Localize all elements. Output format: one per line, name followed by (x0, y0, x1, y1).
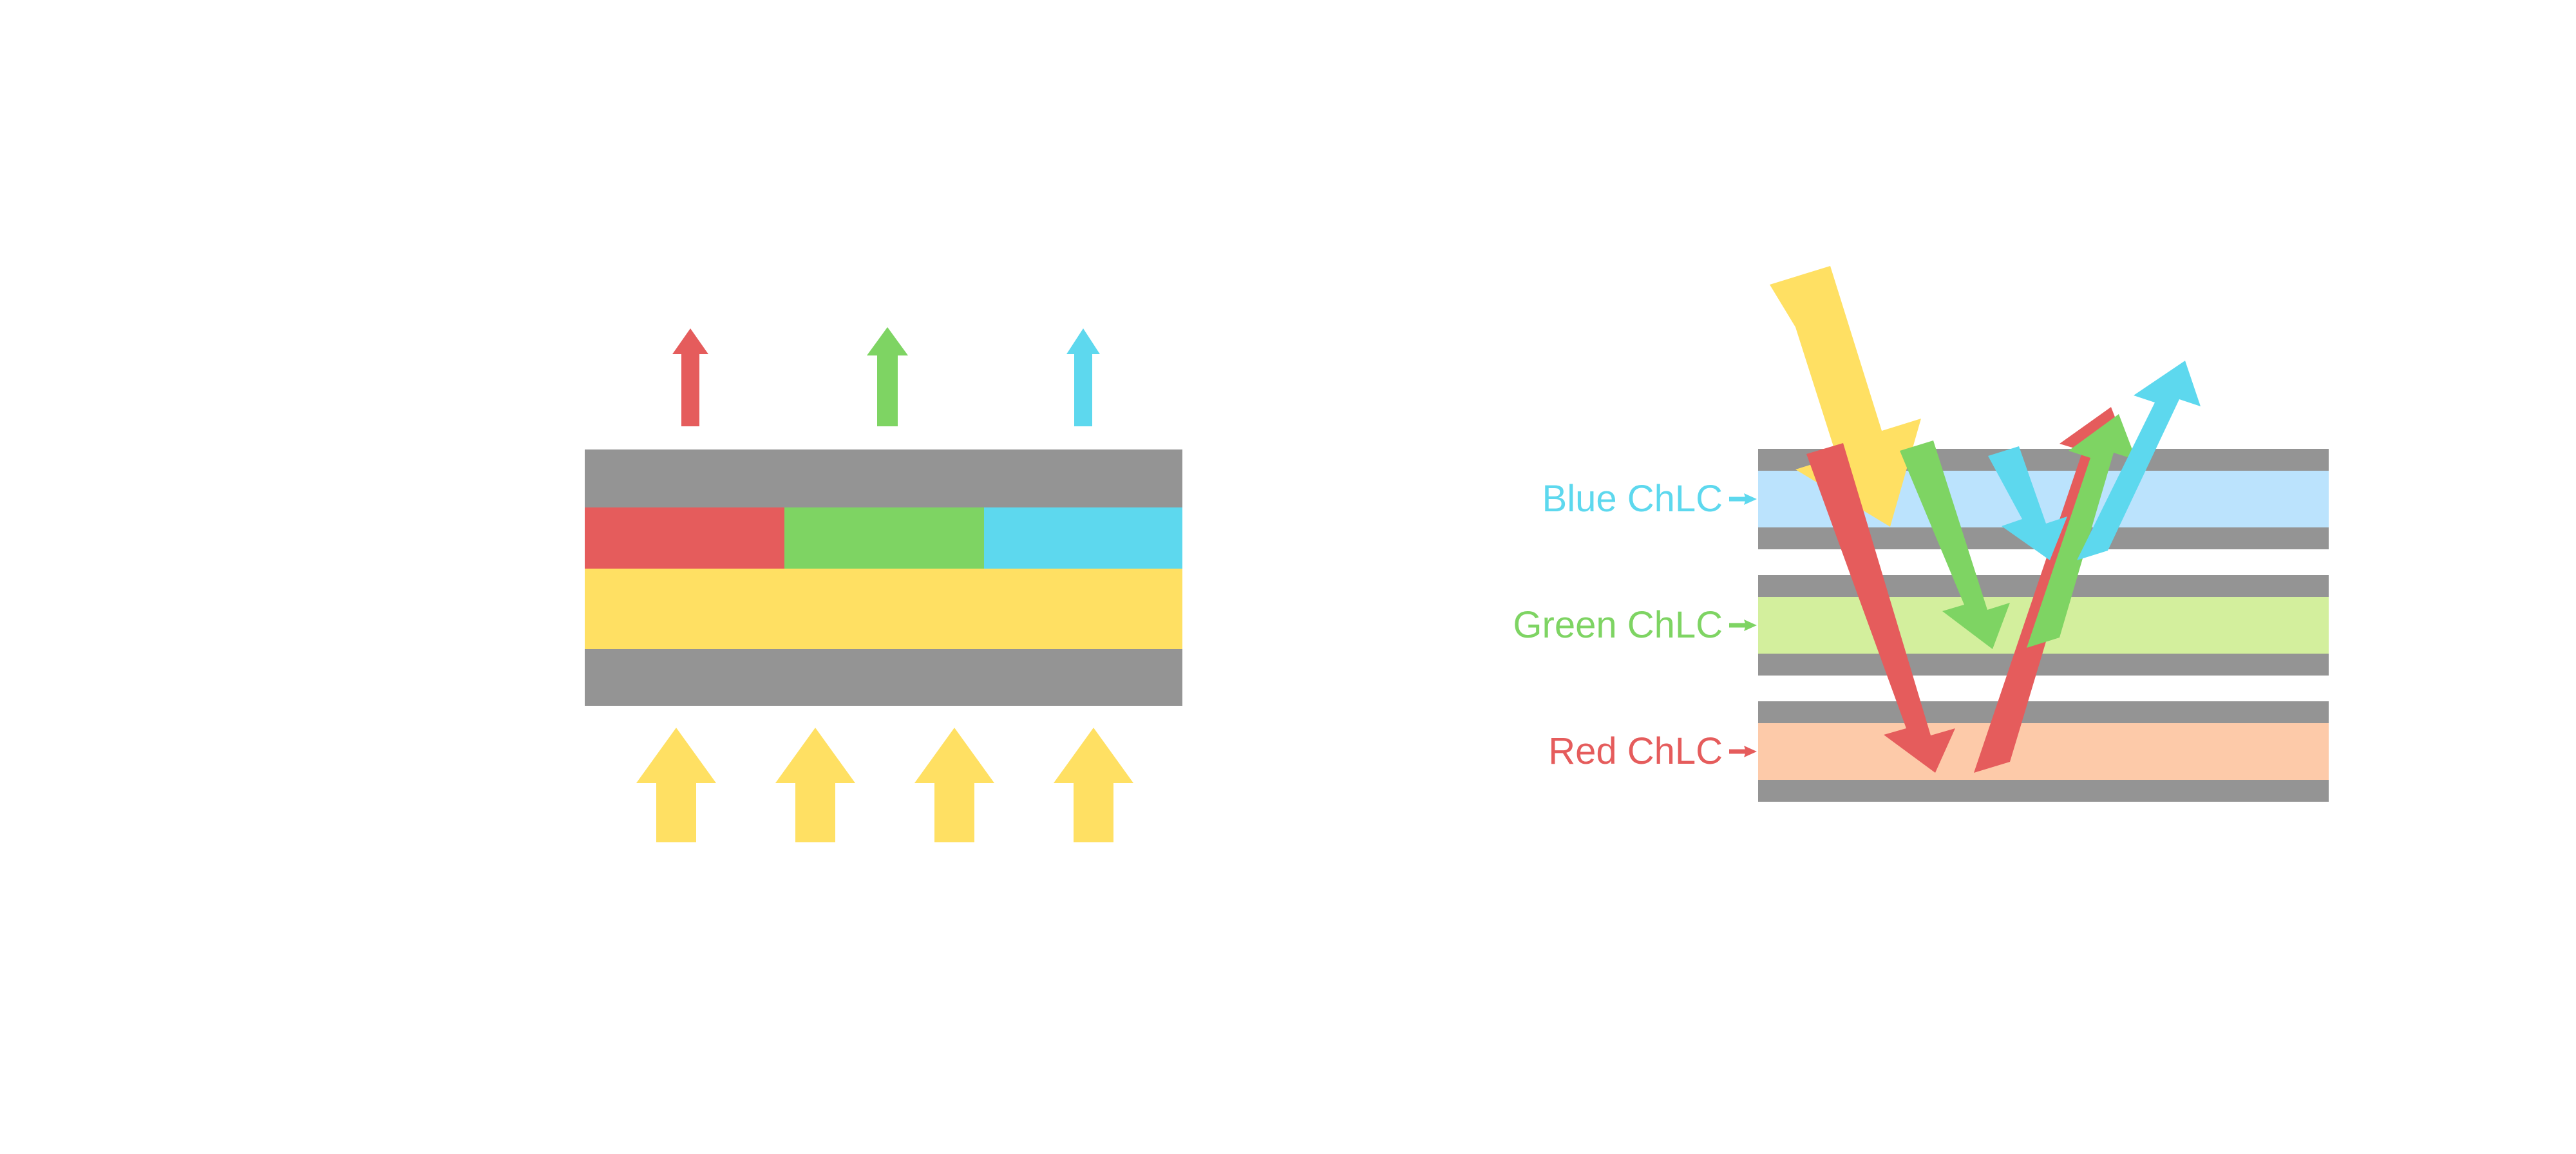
right-diagram-chlc-stack: Blue ChLC Green ChLC Red ChLC (1404, 258, 2370, 902)
backlight-arrow-3 (914, 728, 994, 842)
left-diagram-svg (580, 309, 1236, 837)
label-red-chlc-pointer-icon (1729, 746, 1757, 757)
green-cell-bottom-substrate (1758, 654, 2329, 676)
backlight-arrow-1 (636, 728, 716, 842)
red-cell-top-substrate (1758, 701, 2329, 723)
red-cell-bottom-substrate (1758, 780, 2329, 802)
label-green-chlc: Green ChLC (1513, 604, 1723, 646)
emitted-red-arrow (672, 328, 708, 426)
red-chlc-layer (1758, 723, 2329, 780)
label-blue-chlc: Blue ChLC (1542, 478, 1723, 520)
yellow-backlight-layer (585, 569, 1182, 649)
emitted-green-arrow (867, 327, 908, 426)
backlight-arrow-4 (1054, 728, 1133, 842)
label-green-chlc-pointer-icon (1729, 620, 1757, 631)
green-subpixel-filter (784, 507, 984, 569)
backlight-arrows (636, 728, 1133, 842)
backlight-arrow-2 (775, 728, 855, 842)
left-diagram-emissive-stack (580, 309, 1236, 837)
right-diagram-svg: Blue ChLC Green ChLC Red ChLC (1404, 258, 2370, 902)
figure-canvas: Blue ChLC Green ChLC Red ChLC (0, 0, 2576, 1154)
red-subpixel-filter (585, 507, 784, 569)
label-blue-chlc-pointer-icon (1729, 493, 1757, 505)
emitted-light-arrows (672, 327, 1100, 426)
top-gray-electrode (585, 449, 1182, 507)
blue-subpixel-filter (984, 507, 1182, 569)
label-red-chlc: Red ChLC (1548, 730, 1723, 772)
bottom-gray-electrode (585, 649, 1182, 706)
chlc-labels: Blue ChLC Green ChLC Red ChLC (1513, 478, 1757, 772)
left-layer-stack (585, 449, 1182, 706)
emitted-blue-arrow (1066, 328, 1100, 426)
